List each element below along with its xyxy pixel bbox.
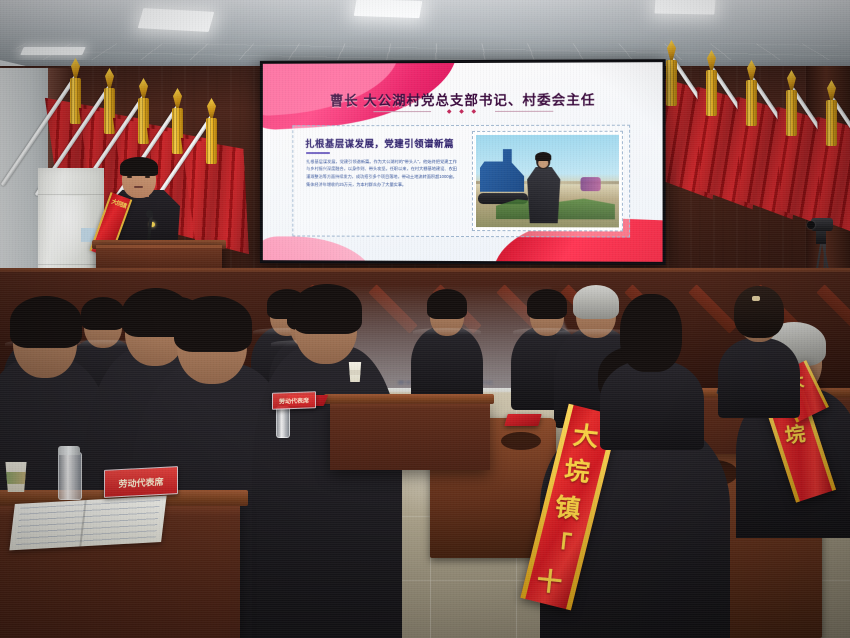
slide-body-text: 扎根基层谋发展，党建引领谱新篇。作为大公湖村的"带头人"，他始终把党建工作与乡村… — [306, 158, 457, 189]
speaker-eye — [127, 176, 132, 178]
flag-tassel — [172, 108, 183, 154]
person-collar — [413, 328, 481, 335]
speaker-sash-text: 大垸镇 — [110, 199, 126, 210]
person-hair — [174, 296, 252, 352]
paper-cup[interactable] — [4, 462, 28, 492]
desk — [330, 400, 490, 470]
person-hair — [427, 289, 467, 319]
cabinet-seam — [38, 194, 104, 195]
glass-thermos[interactable] — [58, 452, 82, 500]
person-torso — [252, 346, 402, 638]
flag-tassel — [826, 100, 837, 146]
sash-character: 十 — [536, 569, 563, 596]
flag-tassel — [206, 118, 217, 164]
presentation-slide: 曹长 大公湖村党总支部书记、村委会主任 ◆ ◆ ◆ 扎根基层谋发展，党建引领谱新… — [263, 62, 663, 262]
projection-screen[interactable]: 曹长 大公湖村党总支部书记、村委会主任 ◆ ◆ ◆ 扎根基层谋发展，党建引领谱新… — [260, 59, 666, 265]
slide-body-panel: 扎根基层谋发展，党建引领谱新篇 扎根基层谋发展，党建引领谱新篇。作为大公湖村的"… — [292, 125, 630, 238]
sash-character: 垸 — [563, 458, 590, 485]
ceiling-light-panel — [354, 0, 423, 18]
person-hair — [81, 297, 125, 330]
excavator-icon — [480, 147, 524, 199]
name-placard[interactable]: 劳动代表席 — [104, 466, 178, 498]
sash-character: 「 — [545, 532, 572, 559]
photo-person-body — [527, 167, 560, 223]
slide-wave-decoration-bottom-left — [263, 236, 376, 262]
name-placard[interactable]: 劳动代表席 — [272, 391, 316, 410]
person-hair — [620, 294, 682, 372]
chair-back-cutout — [501, 432, 541, 450]
sash-character: 大 — [572, 424, 599, 451]
flag-tassel — [786, 90, 797, 136]
camera-lens-icon — [807, 221, 815, 229]
slide-title-ornament: ◆ ◆ ◆ — [373, 108, 553, 115]
cup-band — [348, 370, 362, 375]
thermos-cap[interactable] — [58, 446, 80, 455]
desk-top — [324, 394, 494, 404]
motorbike-icon — [581, 177, 601, 191]
ceiling-light-panel — [20, 47, 86, 55]
person-torso — [600, 360, 704, 450]
person-hair — [527, 289, 567, 319]
red-booklet[interactable] — [504, 414, 541, 426]
flag-tassel — [746, 80, 757, 126]
ceiling-light-panel — [654, 0, 715, 15]
microphone-icon — [146, 210, 153, 218]
speaker-hair — [120, 157, 158, 176]
tripod-head — [816, 230, 826, 244]
hair-clip-icon — [752, 296, 760, 301]
glass-bottle[interactable] — [276, 406, 290, 438]
audience-person-longhair — [600, 300, 700, 430]
name-placard-text: 劳动代表席 — [105, 467, 177, 497]
flag-tassel — [706, 70, 717, 116]
slide-photo-frame — [472, 131, 623, 232]
slide-photo-image — [476, 135, 619, 228]
photo-person-hair — [535, 152, 551, 161]
cup-band — [4, 472, 28, 484]
flag-tassel — [138, 98, 149, 144]
sash-character: 镇 — [554, 495, 581, 522]
open-notebook[interactable] — [9, 496, 166, 551]
person-torso — [718, 338, 800, 418]
flag-tassel — [104, 88, 115, 134]
slide-heading-underline — [306, 152, 330, 154]
name-placard-text: 劳动代表席 — [273, 392, 315, 408]
conference-room-photo: 曹长 大公湖村党总支部书记、村委会主任 ◆ ◆ ◆ 扎根基层谋发展，党建引领谱新… — [0, 0, 850, 638]
paper-cup[interactable] — [348, 362, 362, 382]
speaker-mouth — [134, 186, 143, 188]
speaker-eye — [145, 176, 150, 178]
slide-title: 曹长 大公湖村党总支部书记、村委会主任 — [308, 89, 618, 110]
person-hair — [10, 296, 82, 348]
person-hair — [292, 284, 362, 334]
audience-person-braided — [718, 288, 798, 408]
notebook-ruled-lines — [16, 500, 160, 546]
ceiling-light-panel — [138, 8, 215, 32]
sash-character: 垸 — [784, 424, 807, 447]
flag-tassel — [70, 78, 81, 124]
flag-tassel — [666, 60, 677, 106]
person-hair-braided — [734, 286, 784, 338]
